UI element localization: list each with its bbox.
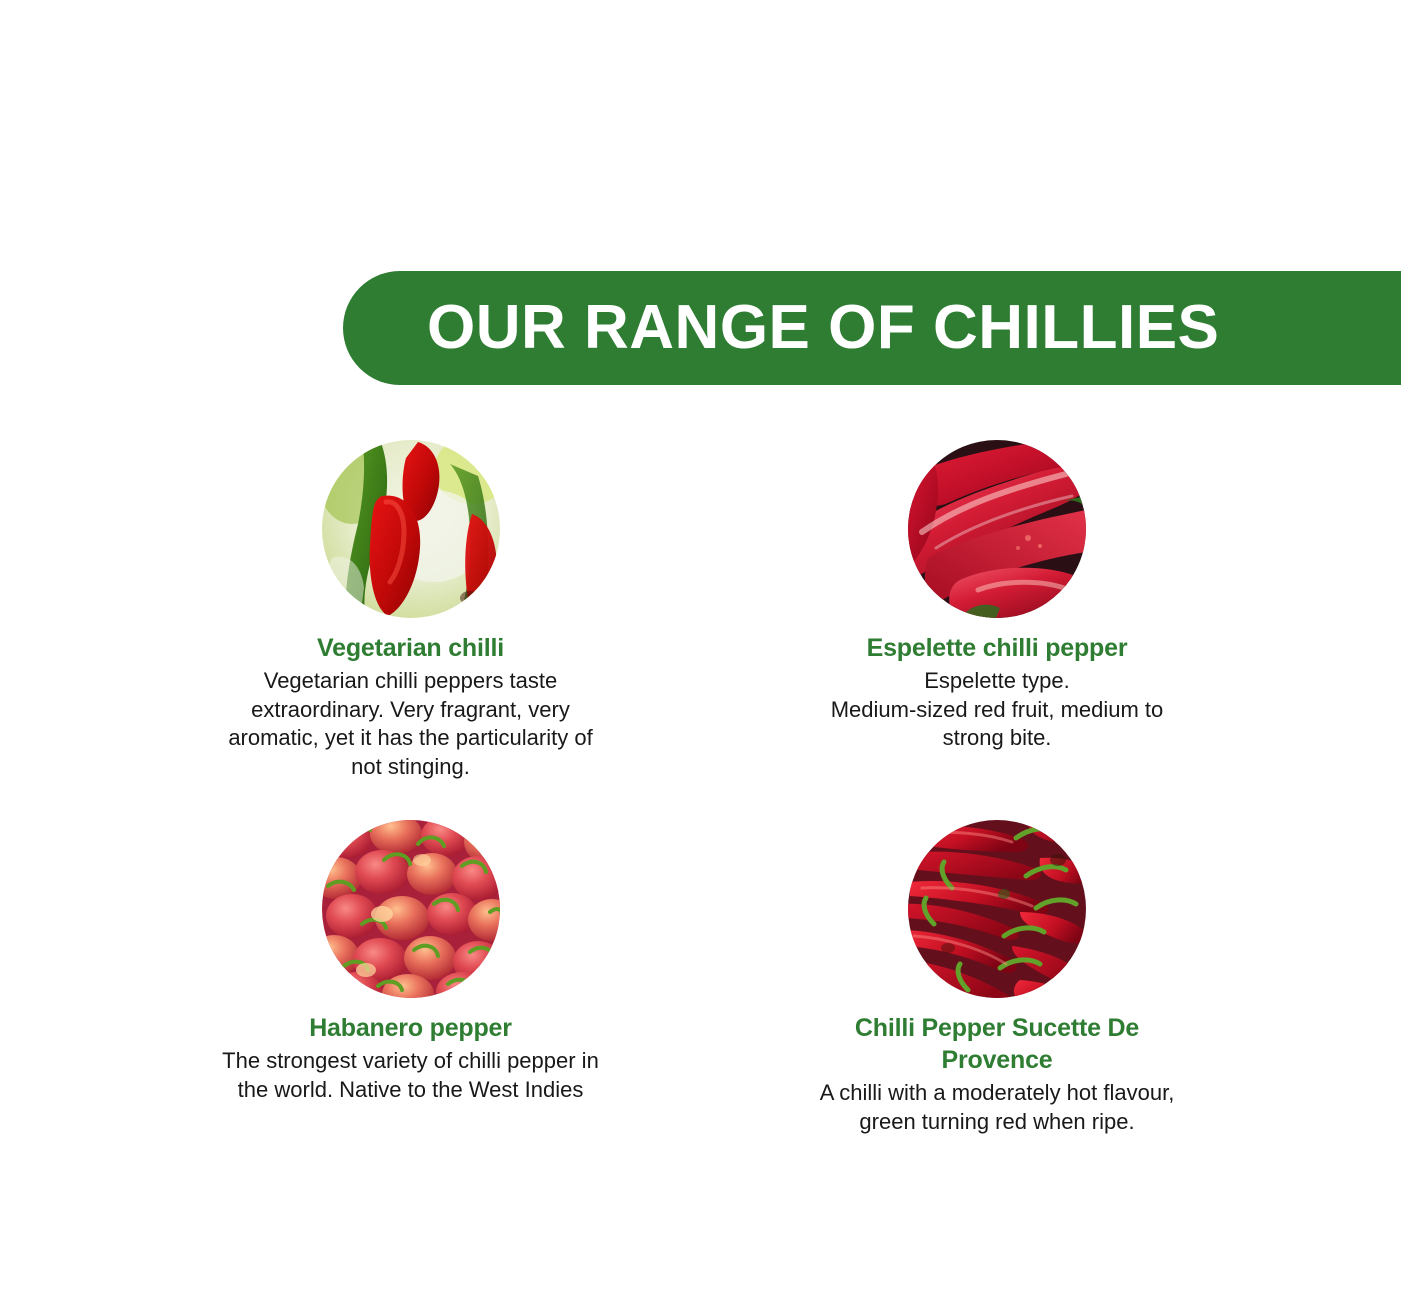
chilli-card-title: Vegetarian chilli: [317, 632, 504, 664]
chilli-card-sucette-de-provence: Chilli Pepper Sucette De Provence A chil…: [801, 820, 1401, 1136]
chilli-card-title: Chilli Pepper Sucette De Provence: [817, 1012, 1177, 1076]
chilli-card-title: Habanero pepper: [309, 1012, 512, 1044]
chilli-photo-espelette-chilli-pepper: [908, 440, 1086, 618]
chilli-card-espelette-chilli-pepper: Espelette chilli pepper Espelette type. …: [801, 440, 1401, 820]
chilli-cards-grid: Vegetarian chilli Vegetarian chilli pepp…: [0, 440, 1401, 1136]
chilli-card-title: Espelette chilli pepper: [867, 632, 1128, 664]
chilli-photo-vegetarian-chilli: [322, 440, 500, 618]
chilli-photo-habanero-pepper: [322, 820, 500, 998]
chilli-card-description: Vegetarian chilli peppers taste extraord…: [221, 667, 601, 781]
chilli-card-description: The strongest variety of chilli pepper i…: [221, 1047, 601, 1104]
chilli-photo-sucette-de-provence: [908, 820, 1086, 998]
chilli-card-description: A chilli with a moderately hot flavour, …: [810, 1079, 1185, 1136]
page-title: OUR RANGE OF CHILLIES: [427, 297, 1219, 359]
chilli-card-description: Espelette type. Medium-sized red fruit, …: [810, 667, 1185, 753]
chilli-card-vegetarian-chilli: Vegetarian chilli Vegetarian chilli pepp…: [0, 440, 801, 820]
page-header-banner: OUR RANGE OF CHILLIES: [343, 271, 1401, 385]
chilli-card-habanero-pepper: Habanero pepper The strongest variety of…: [0, 820, 801, 1136]
